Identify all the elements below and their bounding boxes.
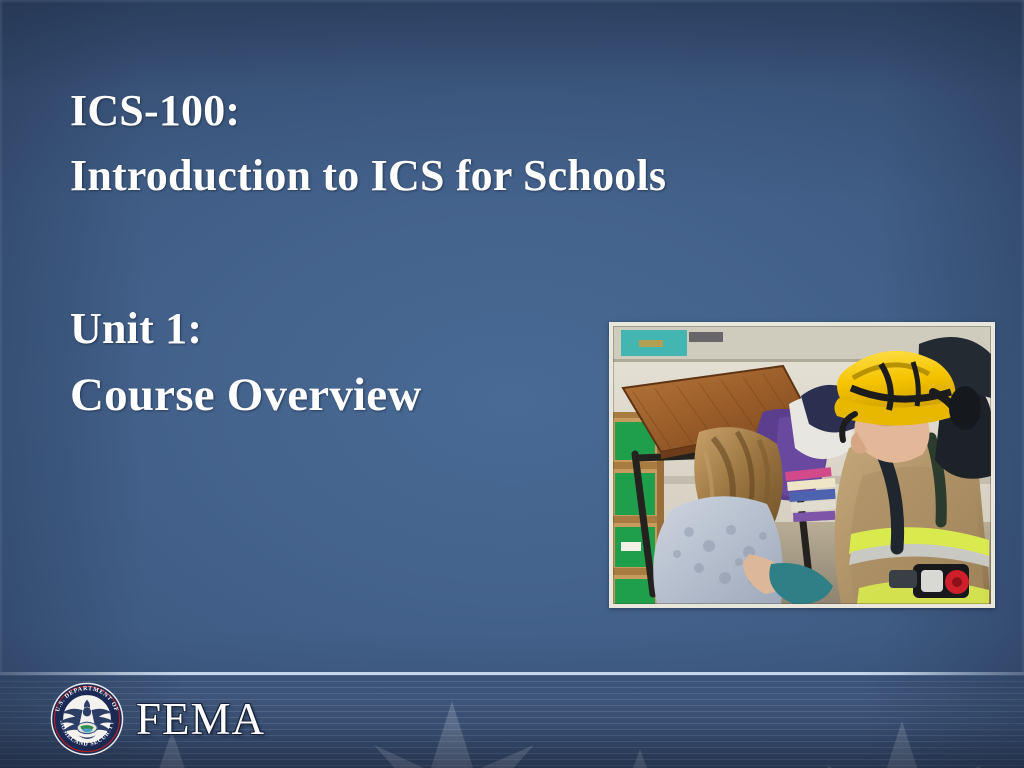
title-line-course-code: ICS-100: [70,78,950,143]
slide: ICS-100: Introduction to ICS for Schools… [0,0,1024,768]
footer-band: U.S. DEPARTMENT OF HOMELAND SECURITY [0,672,1024,768]
photo-frame [609,322,995,608]
classroom-firefighter-photo [613,326,991,604]
subtitle-line-topic: Course Overview [70,361,630,431]
title-line-course-name: Introduction to ICS for Schools [70,143,950,208]
subtitle-line-unit: Unit 1: [70,296,630,361]
slide-subtitle: Unit 1: Course Overview [70,296,630,431]
fema-logo-lockup: U.S. DEPARTMENT OF HOMELAND SECURITY [50,682,265,756]
photo-illustration [613,326,991,604]
dhs-seal-icon: U.S. DEPARTMENT OF HOMELAND SECURITY [50,682,124,756]
fema-wordmark: FEMA [136,697,265,742]
slide-title: ICS-100: Introduction to ICS for Schools [70,78,950,208]
